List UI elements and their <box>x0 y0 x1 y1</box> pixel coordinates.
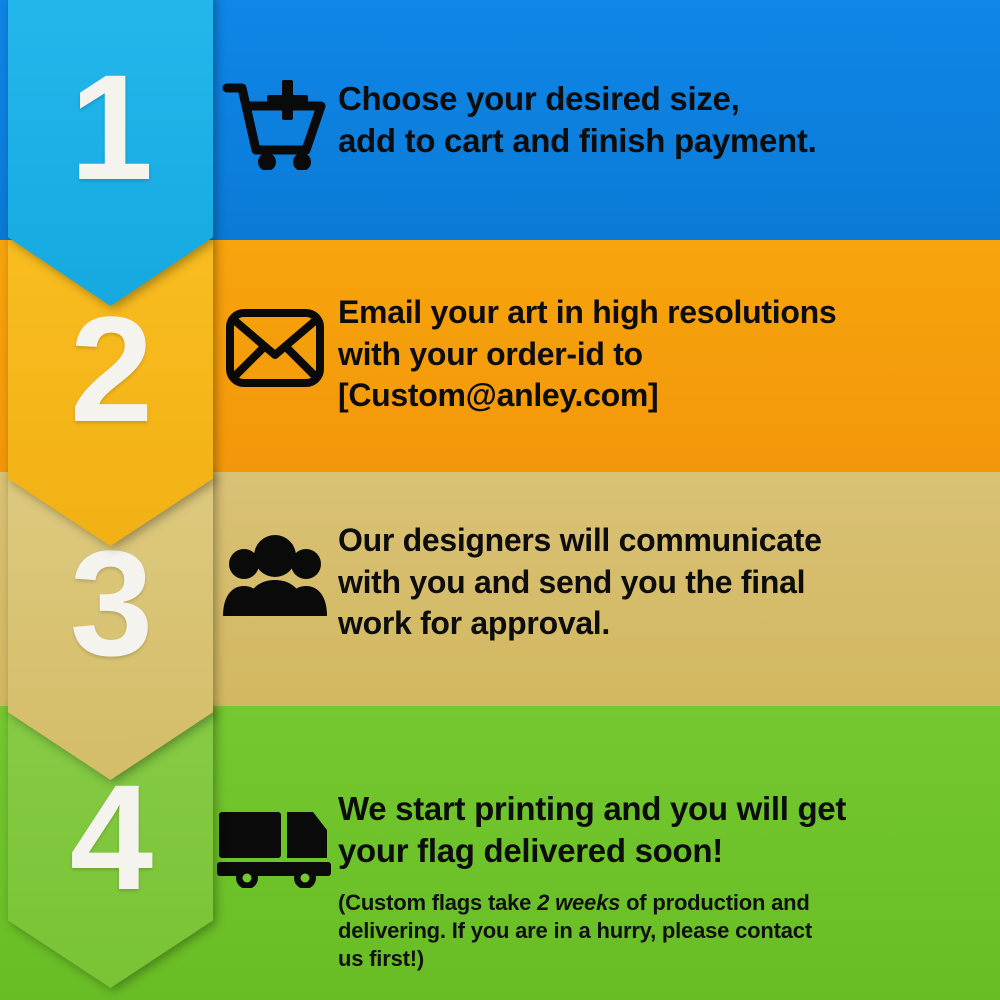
step-row-2: Email your art in high resolutions with … <box>216 292 976 417</box>
step-2-text-cell: Email your art in high resolutions with … <box>334 292 976 417</box>
step-number-4: 4 <box>8 762 213 912</box>
group-of-people-icon <box>222 534 328 616</box>
step-4-note-emphasis: 2 weeks <box>537 890 620 915</box>
shopping-cart-add-icon <box>222 78 328 170</box>
step-2-headline: Email your art in high resolutions with … <box>338 292 976 417</box>
step-number-1: 1 <box>8 52 213 202</box>
step-ribbon-column: 1 2 3 4 <box>0 0 216 1000</box>
envelope-icon <box>225 308 325 388</box>
step-number-3: 3 <box>8 528 213 678</box>
step-number-2: 2 <box>8 294 213 444</box>
step-2-icon-cell <box>216 292 334 388</box>
step-4-icon-cell <box>216 788 334 888</box>
delivery-truck-icon <box>217 806 333 888</box>
step-4-headline: We start printing and you will get your … <box>338 788 976 871</box>
step-3-text-cell: Our designers will communicate with you … <box>334 520 976 645</box>
step-3-headline: Our designers will communicate with you … <box>338 520 976 645</box>
step-1-headline: Choose your desired size, add to cart an… <box>338 78 976 161</box>
step-ribbon-1: 1 <box>8 0 213 306</box>
step-1-text-cell: Choose your desired size, add to cart an… <box>334 78 976 161</box>
step-4-text-cell: We start printing and you will get your … <box>334 788 976 974</box>
step-row-3: Our designers will communicate with you … <box>216 520 976 645</box>
step-3-icon-cell <box>216 520 334 616</box>
step-1-icon-cell <box>216 78 334 170</box>
step-4-note: (Custom flags take 2 weeks of production… <box>338 889 976 973</box>
step-row-1: Choose your desired size, add to cart an… <box>216 78 976 170</box>
steps-infographic: 1 2 3 4 <box>0 0 1000 1000</box>
step-row-4: We start printing and you will get your … <box>216 788 976 974</box>
step-4-note-prefix: (Custom flags take <box>338 890 537 915</box>
